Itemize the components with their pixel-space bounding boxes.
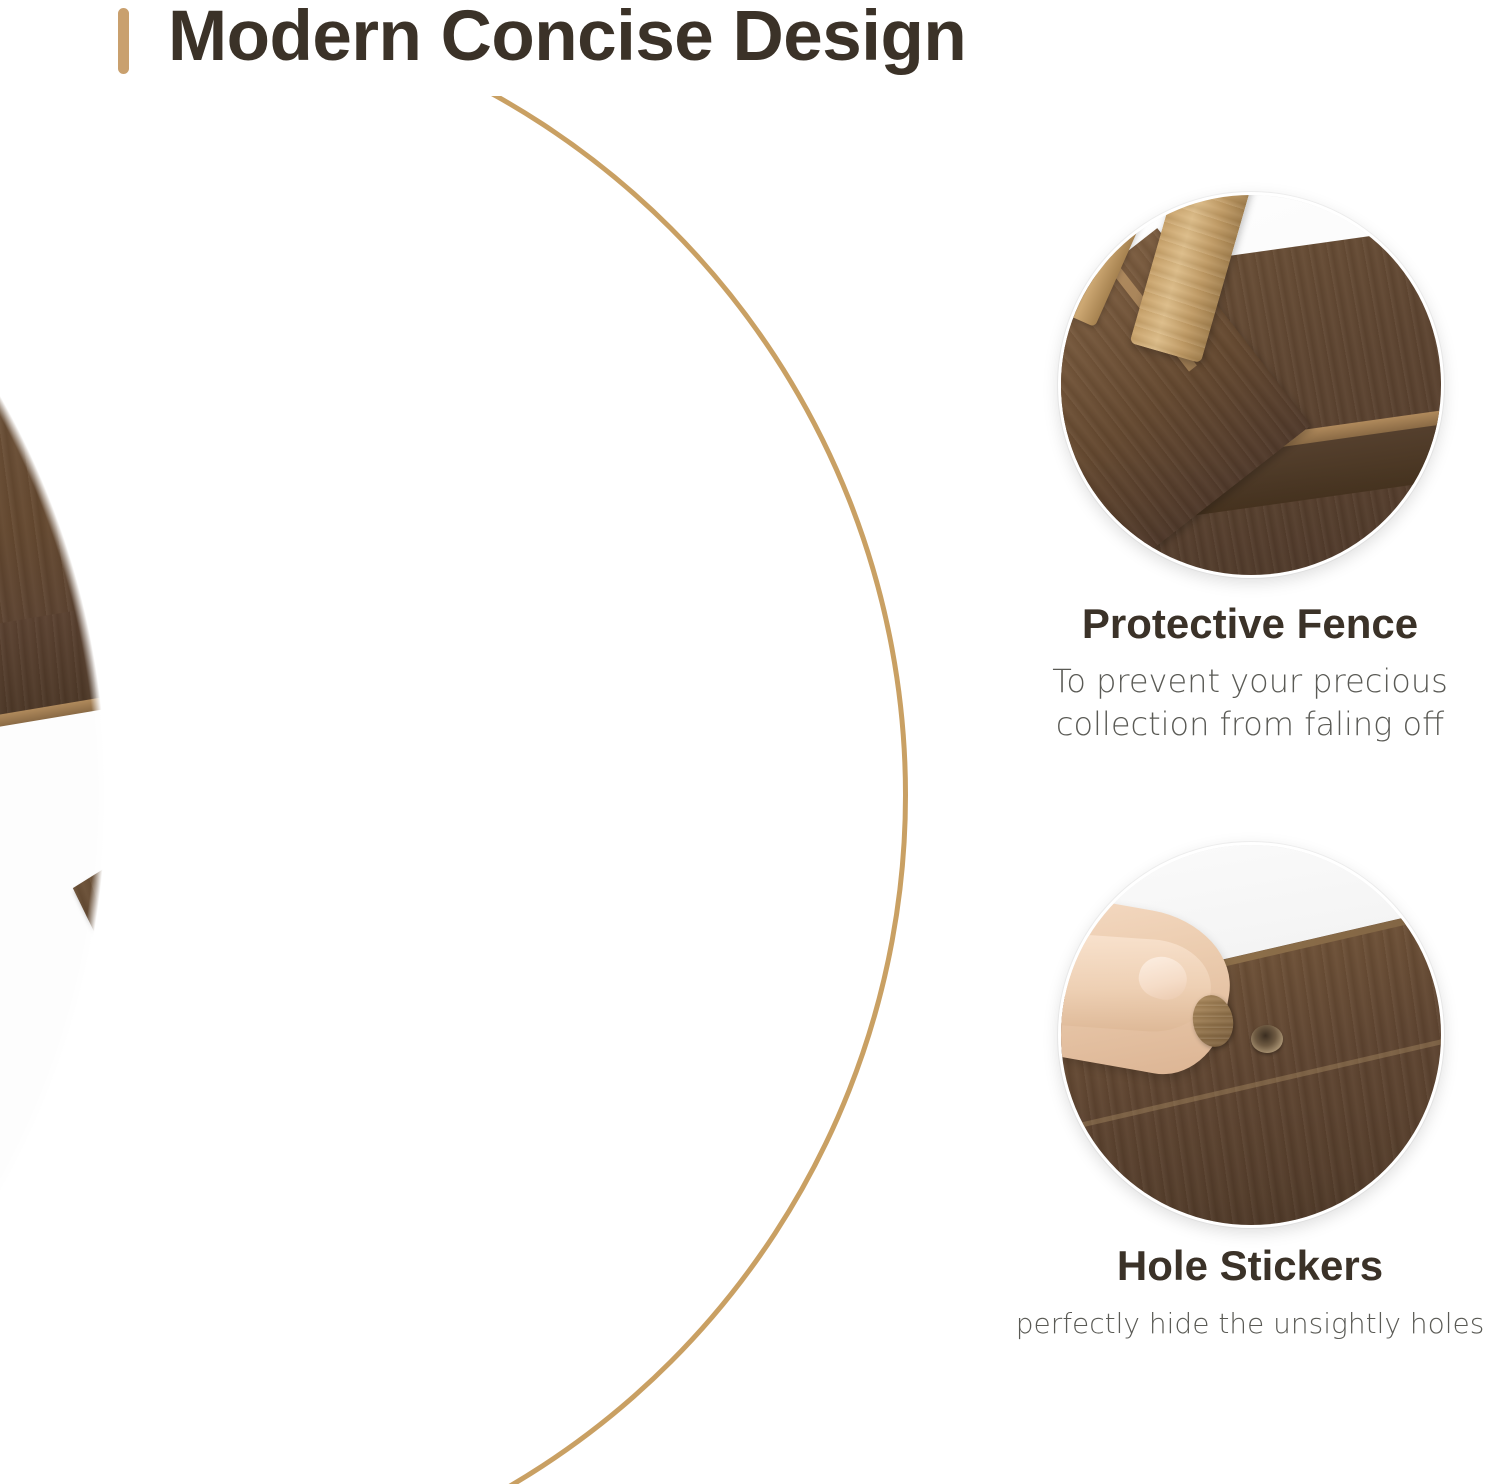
inset-shadow-overlay (1061, 1095, 1444, 1228)
screw-hole-icon (1251, 1025, 1283, 1053)
screw-hole-icon (107, 189, 136, 215)
hero-product-photo (0, 96, 1000, 1484)
page-title: Modern Concise Design (168, 0, 966, 78)
feature-photo-protective-fence (1058, 192, 1444, 578)
page-header: Modern Concise Design (0, 0, 1500, 110)
feature-description: To prevent your preciouscollection from … (1000, 660, 1500, 746)
feature-photo-hole-stickers (1058, 842, 1444, 1228)
feature-title: Protective Fence (1000, 600, 1500, 648)
feature-title: Hole Stickers (1000, 1242, 1500, 1290)
feature-list: Protective Fence To prevent your preciou… (1000, 150, 1500, 1400)
inset-shadow-overlay (1061, 445, 1444, 578)
title-accent-bar (118, 8, 129, 74)
screw-hole-icon (689, 572, 722, 607)
feature-description: perfectly hide the unsightly holes (1000, 1302, 1500, 1345)
